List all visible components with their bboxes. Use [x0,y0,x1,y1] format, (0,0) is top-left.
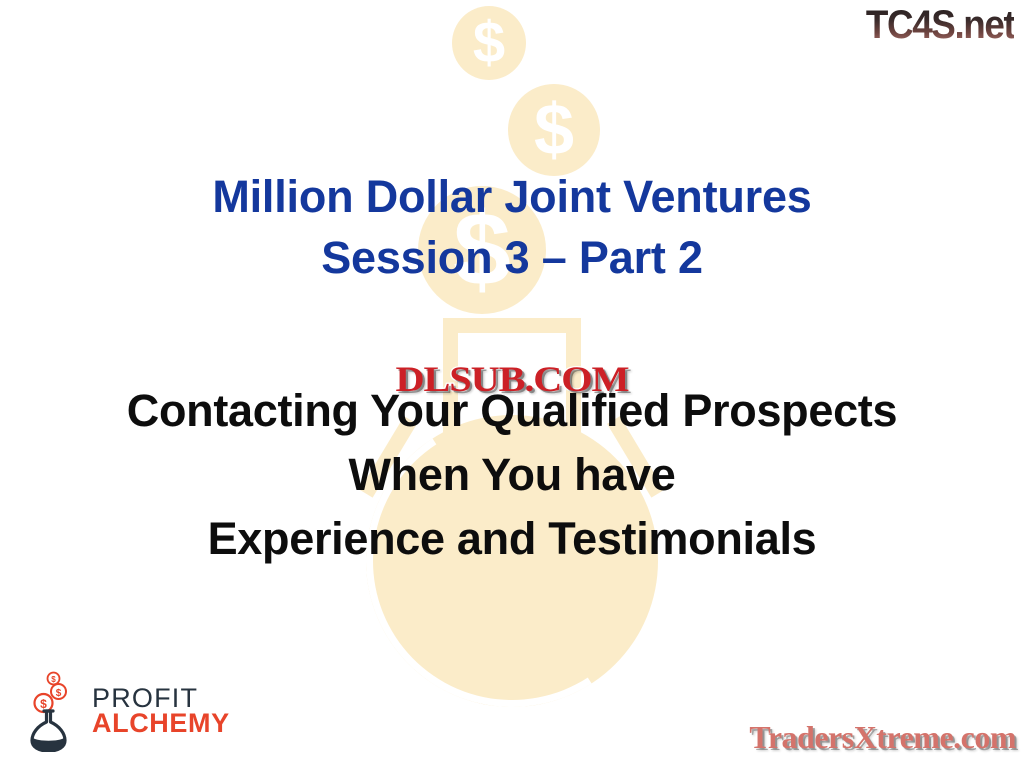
dlsub-watermark: DLSUB.COM [396,358,629,400]
slide-title: Million Dollar Joint Ventures Session 3 … [0,166,1024,288]
slide-subtitle-line-3: Experience and Testimonials [0,507,1024,571]
tradersxtreme-watermark: TradersXtreme.com [749,719,1016,756]
slide-subtitle: Contacting Your Qualified Prospects When… [0,379,1024,571]
slide-subtitle-line-2: When You have [0,443,1024,507]
svg-text:$: $ [40,697,47,711]
profit-alchemy-wordmark: PROFIT ALCHEMY [92,686,230,736]
presentation-slide: $ $ $ Million Dollar Joint Ventures Sess… [0,0,1024,768]
tc4s-watermark: TC4S.net [866,3,1014,48]
slide-title-line-2: Session 3 – Part 2 [0,227,1024,288]
svg-text:$: $ [51,675,56,684]
logo-word-alchemy: ALCHEMY [92,711,230,736]
profit-alchemy-logo: $ $ $ PROFIT ALCHEMY [28,670,230,752]
slide-title-line-1: Million Dollar Joint Ventures [0,166,1024,227]
flask-icon: $ $ $ [28,670,84,752]
svg-text:$: $ [56,688,62,699]
